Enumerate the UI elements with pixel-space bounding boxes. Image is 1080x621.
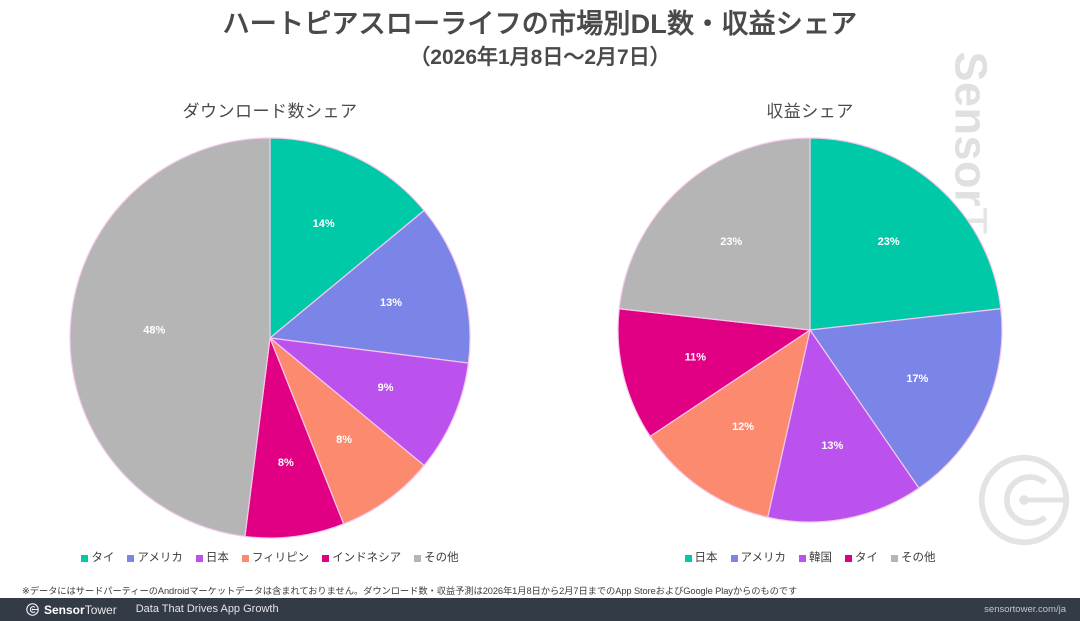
title-block: ハートピアスローライフの市場別DL数・収益シェア （2026年1月8日〜2月7日… — [0, 8, 1080, 71]
legend-item[interactable]: その他 — [891, 553, 936, 565]
legend-swatch-icon — [81, 555, 88, 562]
chart-title-revenue: 収益シェア — [540, 100, 1080, 130]
legend-item-label: フィリピン — [252, 553, 309, 565]
pie-slice-label: 9% — [378, 382, 394, 394]
legend-item[interactable]: その他 — [414, 553, 459, 565]
legend-item[interactable]: フィリピン — [242, 553, 309, 565]
bottom-bar-url: sensortower.com/ja — [984, 605, 1066, 615]
legend-downloads: タイアメリカ日本フィリピンインドネシアその他 — [0, 553, 540, 565]
bottom-bar: SensorTower Data That Drives App Growth … — [0, 598, 1080, 621]
legend-item-label: 韓国 — [809, 553, 832, 565]
slide-root: SensorTower ハートピアスローライフの市場別DL数・収益シェア （20… — [0, 0, 1080, 621]
pie-slice-label: 13% — [821, 440, 843, 452]
page-subtitle: （2026年1月8日〜2月7日） — [0, 45, 1080, 71]
chart-title-downloads: ダウンロード数シェア — [0, 100, 540, 130]
legend-item-label: その他 — [901, 553, 936, 565]
pie-slice-label: 23% — [878, 236, 900, 248]
pie-slice-label: 8% — [336, 434, 352, 446]
legend-item-label: その他 — [424, 553, 459, 565]
legend-item[interactable]: 日本 — [685, 553, 718, 565]
legend-item[interactable]: 日本 — [196, 553, 229, 565]
legend-item-label: タイ — [855, 553, 878, 565]
legend-item[interactable]: タイ — [81, 553, 114, 565]
legend-item-label: 日本 — [695, 553, 718, 565]
legend-item[interactable]: インドネシア — [322, 553, 401, 565]
pie-slice-label: 12% — [732, 421, 754, 433]
legend-item-label: タイ — [91, 553, 114, 565]
legend-swatch-icon — [731, 555, 738, 562]
legend-item[interactable]: 韓国 — [799, 553, 832, 565]
legend-item[interactable]: アメリカ — [731, 553, 786, 565]
pie-slices — [70, 138, 470, 538]
legend-swatch-icon — [322, 555, 329, 562]
bottom-bar-brand-light: Tower — [85, 603, 117, 617]
pie-slice[interactable] — [810, 138, 1001, 330]
bottom-bar-tagline: Data That Drives App Growth — [136, 604, 279, 615]
legend-revenue: 日本アメリカ韓国タイその他 — [540, 553, 1080, 565]
pie-chart-revenue[interactable]: 23%17%13%12%11%23% — [610, 130, 1010, 530]
legend-item[interactable]: アメリカ — [127, 553, 182, 565]
pie-slice-label: 11% — [685, 352, 707, 364]
bottom-bar-brand: SensorTower — [44, 604, 117, 616]
page-title: ハートピアスローライフの市場別DL数・収益シェア — [0, 8, 1080, 42]
pie-slice[interactable] — [70, 138, 270, 536]
pie-slice-label: 14% — [313, 218, 335, 230]
legend-swatch-icon — [799, 555, 806, 562]
pie-chart-downloads[interactable]: 14%13%9%8%8%48% — [60, 130, 480, 550]
charts-container: ダウンロード数シェア 14%13%9%8%8%48% タイアメリカ日本フィリピン… — [0, 100, 1080, 570]
bottom-bar-logo-icon — [26, 603, 39, 616]
pie-slices — [618, 138, 1002, 522]
pie-slice-label: 23% — [720, 236, 742, 248]
pie-slice[interactable] — [619, 138, 810, 330]
footnote: ※データにはサードパーティーのAndroidマーケットデータは含まれておりません… — [22, 583, 1022, 597]
legend-item-label: アメリカ — [741, 553, 786, 565]
legend-swatch-icon — [845, 555, 852, 562]
legend-swatch-icon — [685, 555, 692, 562]
pie-slice-label: 13% — [380, 297, 402, 309]
legend-swatch-icon — [127, 555, 134, 562]
pie-slice-label: 8% — [278, 457, 294, 469]
legend-item[interactable]: タイ — [845, 553, 878, 565]
pie-wrap-downloads: 14%13%9%8%8%48% — [0, 130, 540, 550]
chart-panel-revenue: 収益シェア 23%17%13%12%11%23% 日本アメリカ韓国タイその他 — [540, 100, 1080, 570]
legend-swatch-icon — [196, 555, 203, 562]
pie-slice-label: 17% — [906, 373, 928, 385]
bottom-bar-brand-bold: Sensor — [44, 603, 85, 617]
legend-swatch-icon — [891, 555, 898, 562]
chart-panel-downloads: ダウンロード数シェア 14%13%9%8%8%48% タイアメリカ日本フィリピン… — [0, 100, 540, 570]
pie-slice-label: 48% — [143, 325, 165, 337]
legend-swatch-icon — [414, 555, 421, 562]
legend-item-label: インドネシア — [332, 553, 401, 565]
legend-item-label: 日本 — [206, 553, 229, 565]
legend-item-label: アメリカ — [137, 553, 182, 565]
pie-wrap-revenue: 23%17%13%12%11%23% — [540, 130, 1080, 550]
legend-swatch-icon — [242, 555, 249, 562]
